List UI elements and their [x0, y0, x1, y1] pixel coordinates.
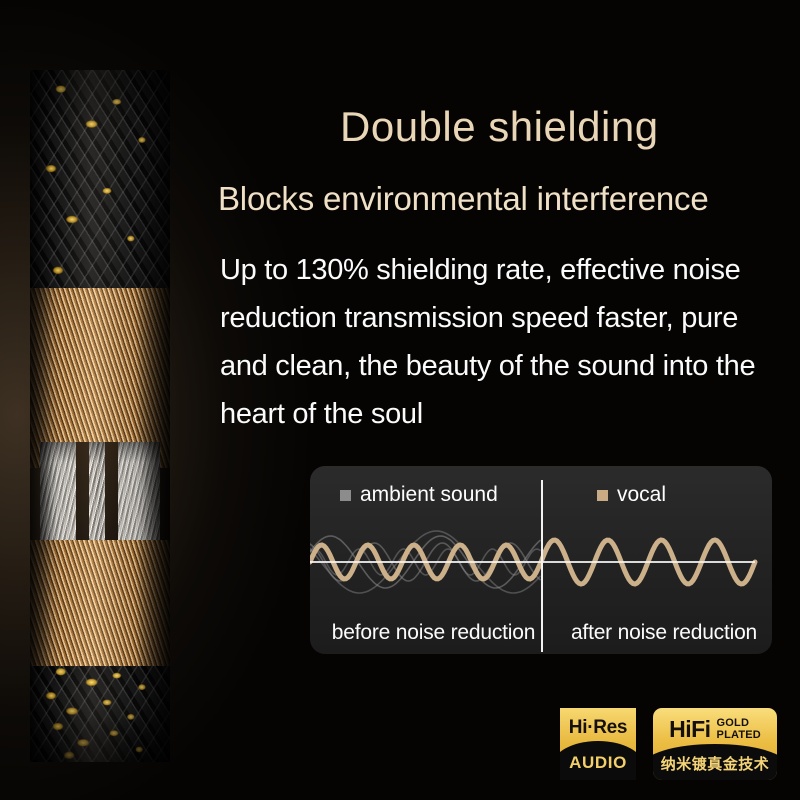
plated-label: PLATED [717, 730, 761, 742]
hifi-chinese-label: 纳米镀真金技术 [653, 753, 777, 774]
audio-label: AUDIO [560, 753, 636, 773]
hi-res-label: Hi·Res [569, 717, 627, 739]
page-subtitle: Blocks environmental interference [218, 180, 708, 218]
hifi-label: HiFi [669, 716, 710, 743]
caption-after-noise-reduction: after noise reduction [557, 621, 771, 645]
panel-divider-upper [541, 480, 543, 626]
caption-before-noise-reduction: before noise reduction [318, 621, 549, 645]
braided-jacket-bottom-layer [30, 666, 170, 762]
product-feature-banner: Double shielding Blocks environmental in… [0, 0, 800, 800]
cable-cutaway-image [30, 70, 170, 762]
hifi-gold-plated-badge: HiFi GOLD PLATED 纳米镀真金技术 [653, 708, 777, 780]
hifi-top-row: HiFi GOLD PLATED [653, 716, 777, 743]
body-description: Up to 130% shielding rate, effective noi… [220, 246, 790, 438]
gold-plated-label: GOLD PLATED [717, 718, 761, 741]
noise-reduction-chart-panel: ambient sound vocal before noise reducti… [310, 466, 772, 654]
hi-res-audio-badge: Hi·Res AUDIO [560, 708, 636, 780]
page-title: Double shielding [340, 103, 659, 151]
copper-shield-top-layer [30, 288, 170, 468]
certification-badges: Hi·Res AUDIO HiFi GOLD PLATED 纳米镀真金技术 [560, 708, 777, 780]
gold-label: GOLD [717, 718, 761, 730]
